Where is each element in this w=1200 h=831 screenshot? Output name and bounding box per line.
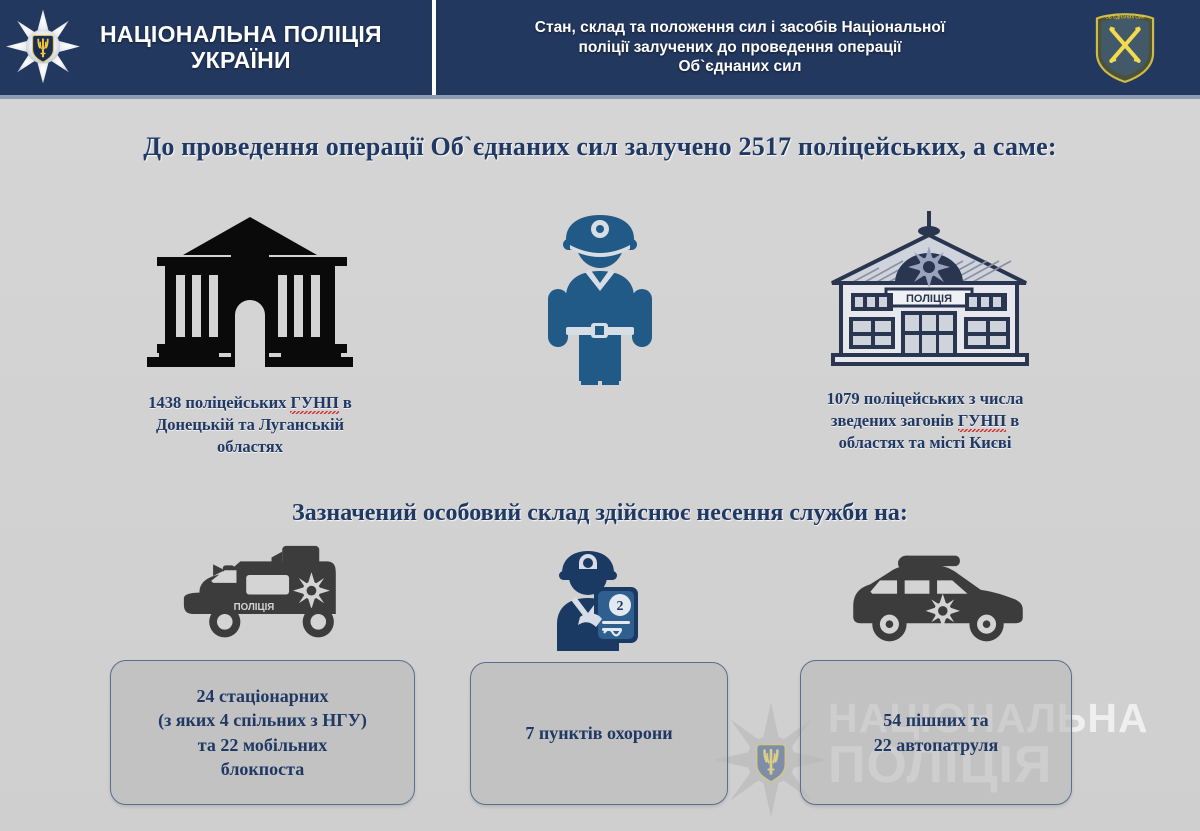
personnel-caption-left: 1438 поліцейських ГУНП в Донецькій та Лу… — [90, 392, 410, 457]
personnel-caption-right: 1079 поліцейських з числа зведених загон… — [755, 388, 1095, 453]
box1-line-4: блокпоста — [158, 757, 367, 781]
svg-text:2: 2 — [617, 599, 624, 614]
header-underline — [0, 95, 1200, 99]
section-subtitle: Зазначений особовий склад здійснює несен… — [0, 500, 1200, 527]
caption-left-count-text: 1438 поліцейських — [148, 393, 286, 412]
caption-right-line-3: областях та місті Києві — [755, 432, 1095, 454]
officer-document-check-icon: 2 — [540, 543, 650, 653]
joint-forces-operation-emblem-icon: ОБ`ЄДНАНИХ СИЛ — [1050, 0, 1200, 95]
caption-left-tail: в — [343, 393, 352, 412]
box1-line-1: 24 стаціонарних — [158, 684, 367, 708]
police-patrol-car-icon — [838, 548, 1038, 648]
box3-line-1: 54 пішних та — [874, 708, 999, 732]
caption-right-abbr: ГУНП — [958, 411, 1006, 432]
box1-line-2: (з яких 4 спільних з НГУ) — [158, 708, 367, 732]
service-box-checkpoints: 24 стаціонарних (з яких 4 спільних з НГУ… — [110, 660, 415, 805]
police-station-icon: ПОЛІЦІЯ — [823, 205, 1038, 375]
brand-line-2: УКРАЇНИ — [100, 48, 382, 74]
header-title-line-1: Стан, склад та положення сил і засобів Н… — [535, 18, 945, 37]
box3-line-2: 22 автопатруля — [874, 733, 999, 757]
caption-right-tail: в — [1010, 411, 1019, 430]
header-title-line-3: Об`єднаних сил — [535, 57, 945, 76]
government-building-icon — [135, 205, 365, 380]
personnel-item-gunp-donetsk-luhansk — [90, 205, 410, 380]
caption-left-line-2: Донецькій та Луганській — [90, 414, 410, 436]
van-label: ПОЛІЦІЯ — [234, 602, 275, 613]
national-police-star-badge-icon — [6, 8, 80, 88]
brand-line-1: НАЦІОНАЛЬНА ПОЛІЦІЯ — [100, 22, 382, 48]
box1-line-3: та 22 мобільних — [158, 733, 367, 757]
header-brand-title: НАЦІОНАЛЬНА ПОЛІЦІЯ УКРАЇНИ — [100, 22, 382, 74]
personnel-item-officer-figure — [445, 205, 755, 385]
caption-right-line-2-head: зведених загонів — [831, 411, 954, 430]
header-title-line-2: поліції залучених до проведення операції — [535, 38, 945, 57]
caption-left-abbr: ГУНП — [290, 393, 338, 414]
personnel-item-consolidated-units: ПОЛІЦІЯ — [760, 205, 1100, 375]
emblem-caption: ОБ`ЄДНАНИХ СИЛ — [1106, 14, 1145, 19]
infographic-page: НАЦІОНАЛЬНА ПОЛІЦІЯ УКРАЇНИ Стан, склад … — [0, 0, 1200, 831]
header-brand-block: НАЦІОНАЛЬНА ПОЛІЦІЯ УКРАЇНИ — [0, 0, 432, 95]
station-sign-label: ПОЛІЦІЯ — [906, 293, 952, 305]
service-box-patrols: 54 пішних та 22 автопатруля — [800, 660, 1072, 805]
page-header: НАЦІОНАЛЬНА ПОЛІЦІЯ УКРАЇНИ Стан, склад … — [0, 0, 1200, 95]
service-icons-row: ПОЛІЦІЯ — [0, 548, 1200, 658]
header-title-block: Стан, склад та положення сил і засобів Н… — [436, 0, 1050, 95]
page-title: До проведення операції Об`єднаних сил за… — [0, 132, 1200, 162]
box2-line-1: 7 пунктів охорони — [525, 721, 672, 745]
police-van-icon: ПОЛІЦІЯ — [170, 540, 375, 652]
policeman-figure-icon — [535, 205, 665, 385]
caption-left-line-3: областях — [90, 436, 410, 458]
service-box-guard-posts: 7 пунктів охорони — [470, 662, 728, 805]
caption-right-line-1: 1079 поліцейських з числа — [755, 388, 1095, 410]
